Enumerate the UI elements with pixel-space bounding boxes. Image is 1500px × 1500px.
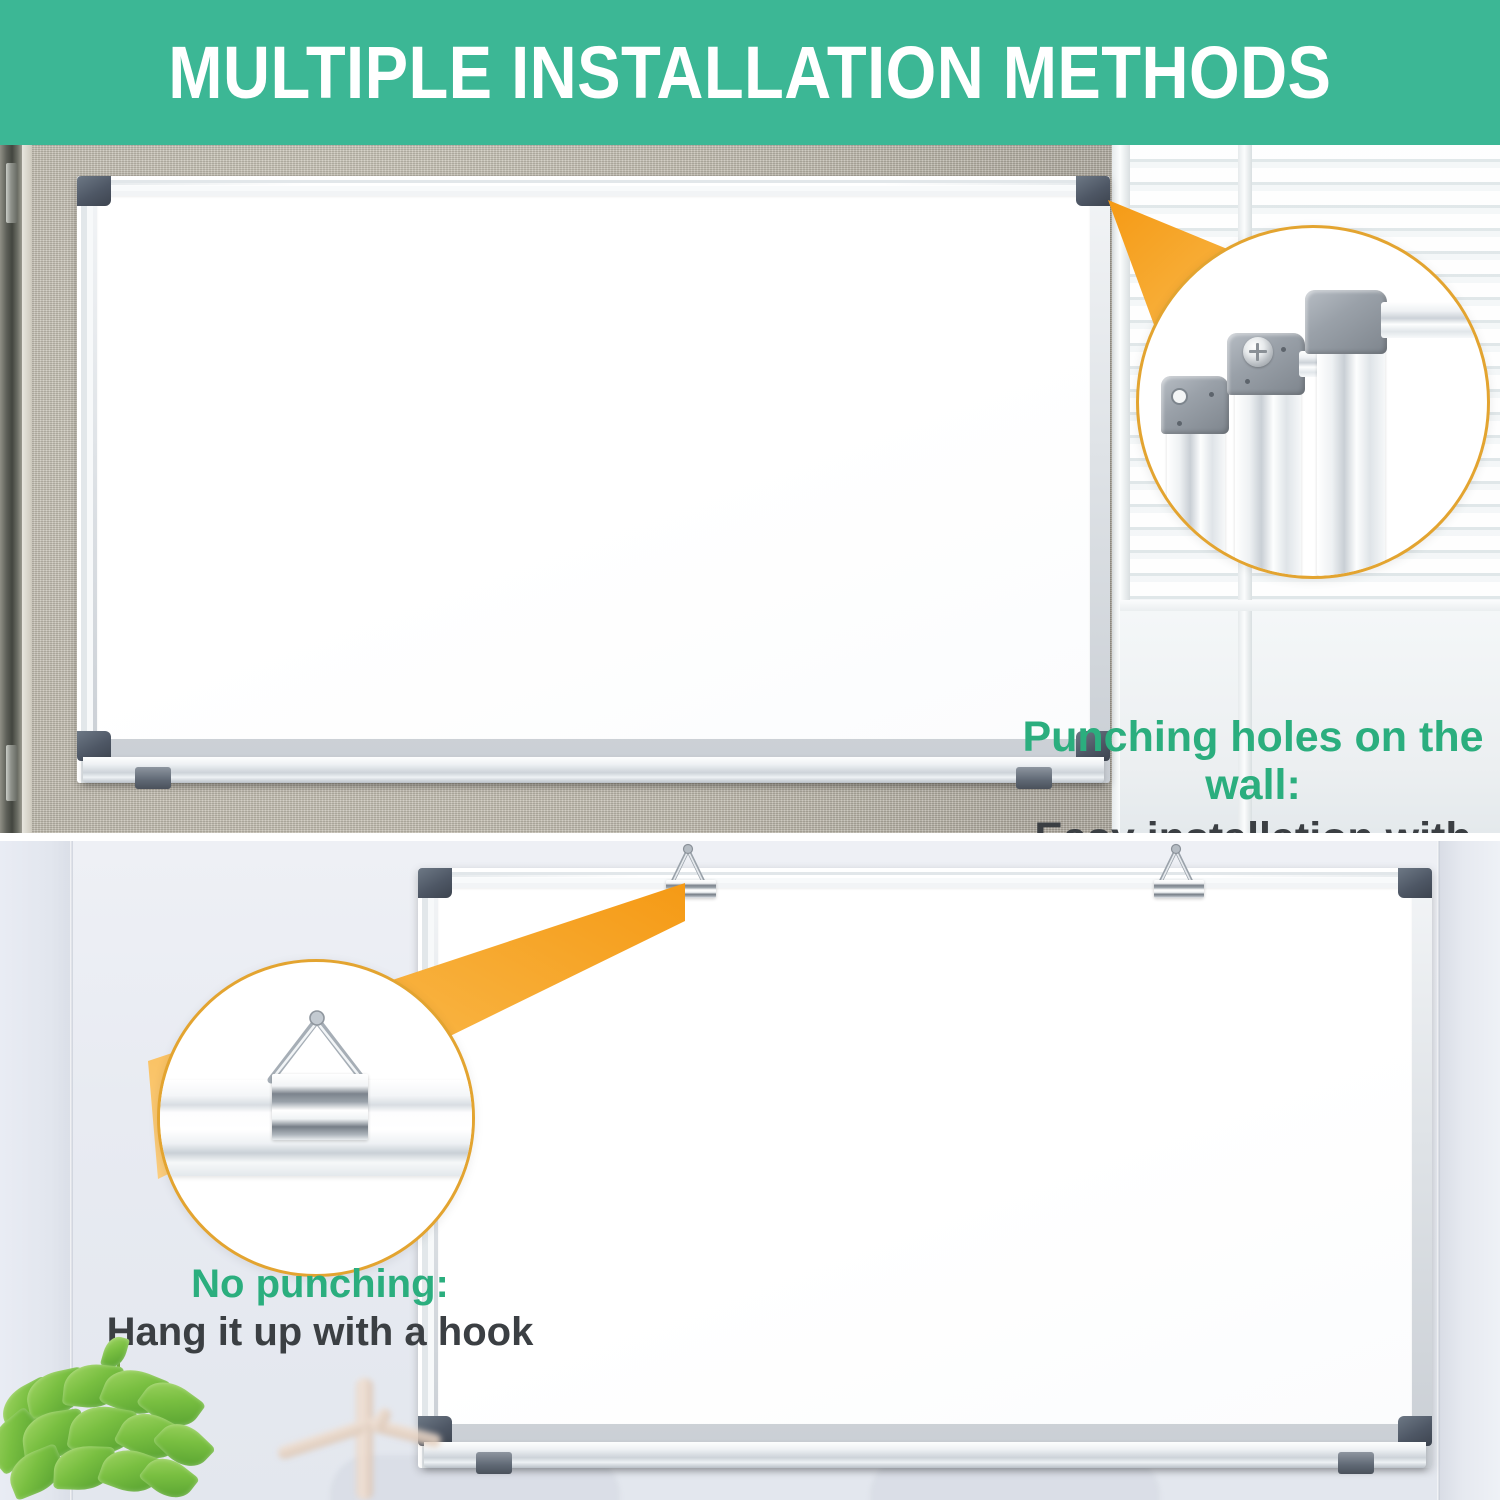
tray-clip-right <box>1338 1452 1374 1474</box>
callout-hook-hang: No punching: Hang it up with a hook <box>60 1262 580 1355</box>
bottom-panel-hook-hang-scene: No punching: Hang it up with a hook <box>0 841 1500 1500</box>
screw-dot-icon <box>1209 392 1214 397</box>
callout-body: Easy installation with fixing kits <box>1018 814 1488 833</box>
frame-rail-horizontal <box>1381 302 1490 338</box>
page-title: MULTIPLE INSTALLATION METHODS <box>168 36 1331 110</box>
tray-clip-left <box>476 1452 512 1474</box>
door-hinge-icon <box>6 163 17 223</box>
frame-top-rail-highlight <box>111 183 1076 186</box>
callout-wall-mount: Punching holes on the wall: Easy install… <box>1018 713 1488 833</box>
hanger-mount-plate <box>272 1074 368 1140</box>
whiteboard-wall-mounted <box>77 176 1110 783</box>
frame-rail-vertical <box>1167 418 1225 578</box>
screw-dot-icon <box>1177 421 1182 426</box>
top-panel-wall-mount-scene: Punching holes on the wall: Easy install… <box>0 145 1500 833</box>
frame-corner-top-right <box>1398 868 1432 898</box>
callout-heading: Punching holes on the wall: <box>1018 713 1488 809</box>
corner-cap <box>1305 290 1387 354</box>
tray-clip-left <box>135 767 171 789</box>
potted-plant-decor <box>0 1346 292 1500</box>
wall-edge-highlight <box>22 145 32 833</box>
marker-tray <box>424 1442 1426 1468</box>
whiteboard-writing-surface <box>97 196 1090 739</box>
corner-cap <box>1161 376 1229 434</box>
marker-tray <box>83 757 1104 783</box>
header-banner: MULTIPLE INSTALLATION METHODS <box>0 0 1500 145</box>
frame-rail-vertical <box>1317 336 1385 576</box>
screw-head-icon <box>1243 337 1273 367</box>
hanger-mount-plate-right <box>1154 880 1204 898</box>
frame-corner-top-left <box>77 176 111 206</box>
coat-rack-post <box>356 1378 373 1500</box>
frame-rail-vertical <box>1235 377 1301 577</box>
magnifier-circle-corner-connectors <box>1136 225 1490 579</box>
screw-dot-icon <box>1245 379 1250 384</box>
door-hinge-icon <box>6 745 17 801</box>
coat-rack-decor <box>272 1378 452 1500</box>
wall-corner-seam <box>1437 841 1440 1500</box>
panel-divider <box>0 833 1500 841</box>
mounting-hole-icon <box>1171 388 1188 405</box>
right-wall-surface <box>1438 841 1500 1500</box>
product-infographic: MULTIPLE INSTALLATION METHODS <box>0 0 1500 1500</box>
door-jamb <box>0 145 22 833</box>
screw-dot-icon <box>1281 347 1286 352</box>
callout-heading: No punching: <box>60 1262 580 1307</box>
magnifier-circle-hanger-detail <box>157 959 475 1277</box>
